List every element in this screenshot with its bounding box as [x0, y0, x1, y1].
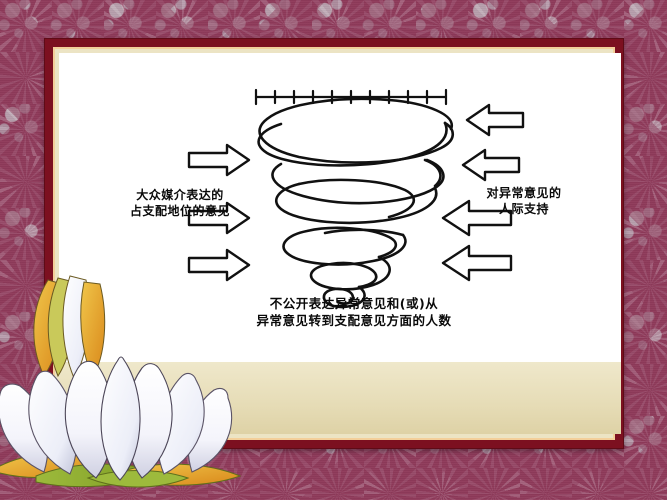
slide-stage: 大众媒介表达的 占支配地位的意见 对异常意见的 人际支持 不公开表达异常意见和(…: [0, 0, 667, 500]
top-scale-ruler: [256, 90, 446, 104]
arrow-left-4: [443, 246, 511, 280]
label-silent-majority-count: 不公开表达异常意见和(或)从 异常意见转到支配意见方面的人数: [209, 296, 499, 330]
lotus-decoration: [0, 272, 252, 500]
lotus-front-petals: [65, 357, 172, 480]
arrow-right-1: [189, 145, 249, 175]
label-interpersonal-support: 对异常意见的 人际支持: [469, 185, 579, 217]
arrow-left-2: [463, 150, 519, 180]
arrow-left-1: [467, 105, 523, 135]
spiral-vortex: [259, 99, 453, 307]
label-dominant-opinion-media: 大众媒介表达的 占支配地位的意见: [121, 187, 239, 219]
